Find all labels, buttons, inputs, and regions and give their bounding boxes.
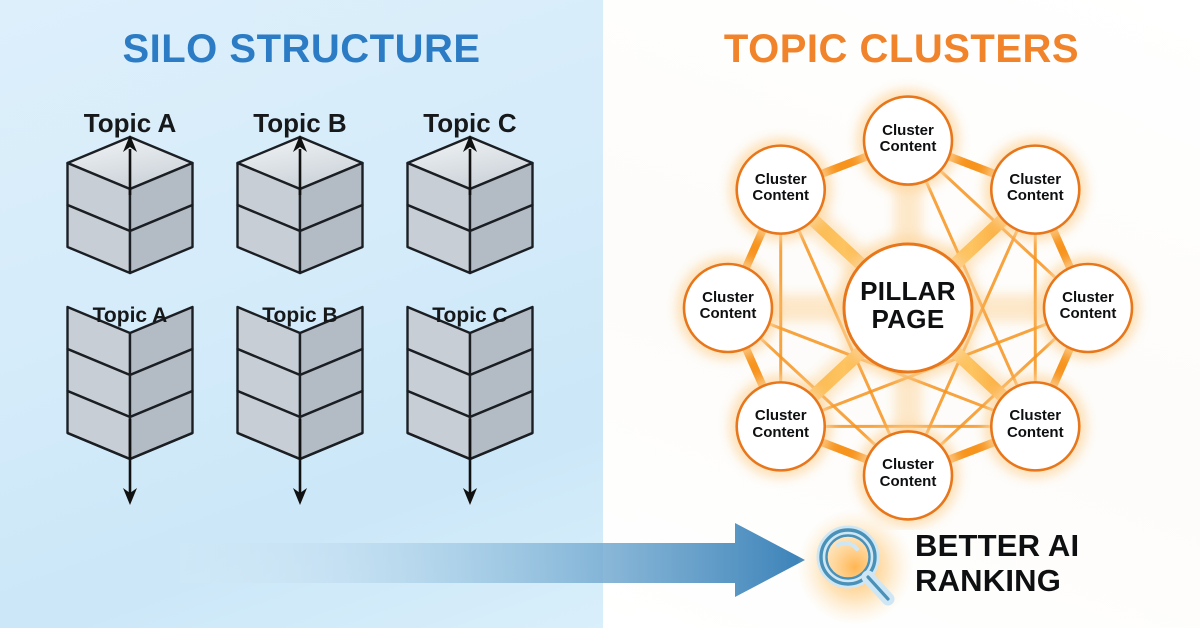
topic-cluster-network: ClusterContentClusterContentClusterConte… bbox=[603, 60, 1200, 530]
cluster-node-0 bbox=[864, 97, 952, 185]
cluster-node-3 bbox=[991, 382, 1079, 470]
infographic-canvas: SILO STRUCTURE TOPIC CLUSTERS Topic A To… bbox=[0, 0, 1200, 628]
cluster-node-2 bbox=[1044, 264, 1132, 352]
silo-stack bbox=[45, 108, 215, 528]
transition-arrow bbox=[180, 523, 805, 597]
silo-column-c: Topic C Topic C bbox=[385, 108, 555, 528]
cluster-graph bbox=[603, 60, 1200, 530]
better-ai-ranking-label: BETTER AI RANKING bbox=[915, 529, 1185, 598]
result-line-2: RANKING bbox=[915, 564, 1185, 599]
silo-column-a: Topic A Topic A bbox=[45, 108, 215, 528]
silo-stack bbox=[385, 108, 555, 528]
silo-heading: Topic A bbox=[45, 108, 215, 139]
pillar-page-node bbox=[844, 244, 972, 372]
silo-panel-title: SILO STRUCTURE bbox=[0, 27, 603, 72]
result-line-1: BETTER AI bbox=[915, 529, 1185, 564]
silo-heading: Topic C bbox=[385, 108, 555, 139]
cluster-node-7 bbox=[737, 146, 825, 234]
silo-stack bbox=[215, 108, 385, 528]
cluster-node-6 bbox=[684, 264, 772, 352]
silo-heading: Topic B bbox=[215, 108, 385, 139]
silo-column-b: Topic B Topic B bbox=[215, 108, 385, 528]
cluster-node-1 bbox=[991, 146, 1079, 234]
cluster-node-5 bbox=[737, 382, 825, 470]
